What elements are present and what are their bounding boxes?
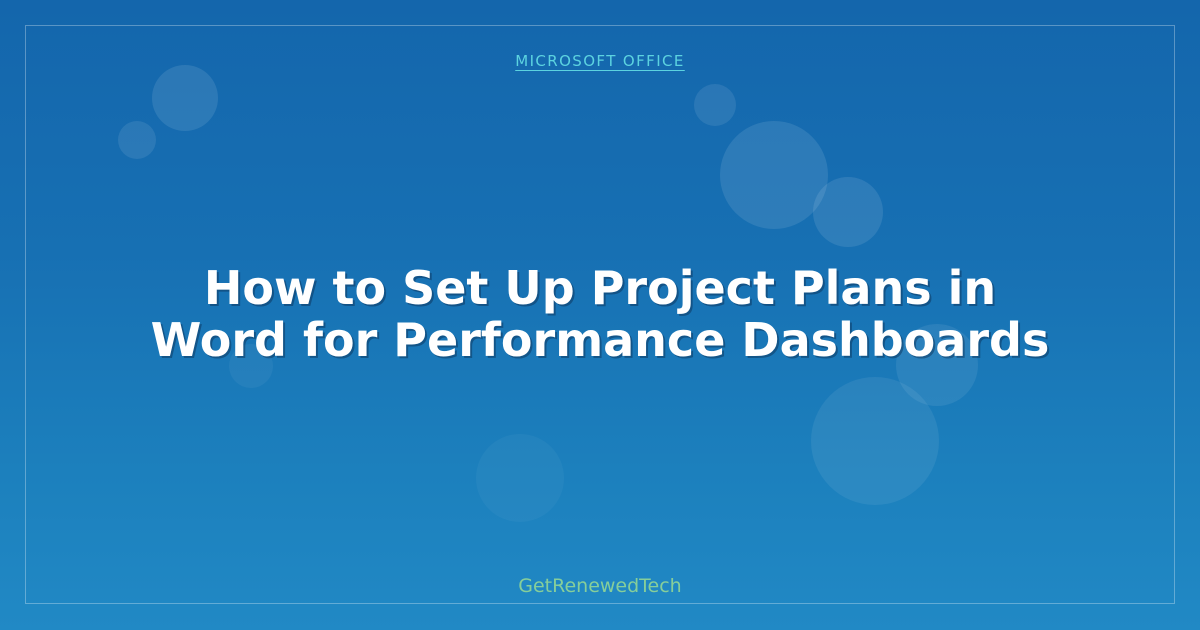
title-block: How to Set Up Project Plans in Word for … [0,0,1200,630]
site-brand-footer: GetRenewedTech [0,577,1200,596]
category-eyebrow-label[interactable]: MICROSOFT OFFICE [515,54,685,69]
page-title: How to Set Up Project Plans in Word for … [110,263,1090,366]
card-content: MICROSOFT OFFICE How to Set Up Project P… [0,0,1200,630]
social-share-card: MICROSOFT OFFICE How to Set Up Project P… [0,0,1200,630]
